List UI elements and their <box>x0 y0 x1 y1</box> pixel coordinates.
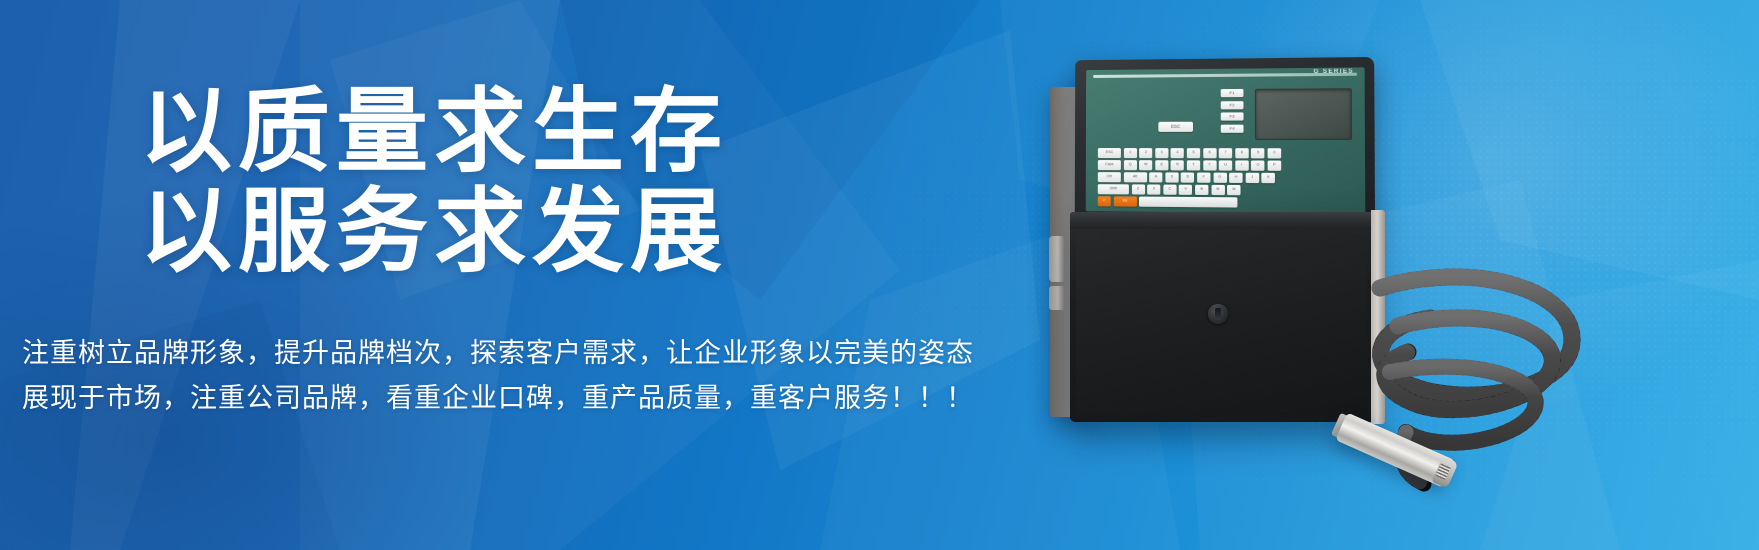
printer-product-image: G SERIES F1 F2 F3 F4 ESC ESC 1 2 3 4 <box>1020 40 1759 510</box>
key-1[interactable]: 1 <box>1124 148 1137 158</box>
keypad-row-3: Ctrl Alt A S D F G H J K <box>1098 172 1357 183</box>
key-g[interactable]: G <box>1213 173 1226 183</box>
key-m[interactable]: M <box>1227 185 1241 195</box>
cabinet-top-lip <box>1070 212 1375 229</box>
key-y[interactable]: Y <box>1203 160 1216 170</box>
key-e[interactable]: E <box>1155 160 1168 170</box>
key-v[interactable]: V <box>1179 185 1192 195</box>
key-i[interactable]: I <box>1235 161 1249 171</box>
key-7[interactable]: 7 <box>1219 148 1232 158</box>
key-q[interactable]: Q <box>1123 160 1136 170</box>
control-panel: G SERIES F1 F2 F3 F4 ESC ESC 1 2 3 4 <box>1086 67 1366 214</box>
key-d[interactable]: D <box>1181 173 1194 183</box>
cabinet-latch[interactable] <box>1208 304 1228 324</box>
lcd-display <box>1255 88 1352 140</box>
key-8[interactable]: 8 <box>1235 148 1249 158</box>
subtitle-line-1: 注重树立品牌形象，提升品牌档次，探索客户需求，让企业形象以完美的姿态 <box>22 331 974 370</box>
key-f1[interactable]: F1 <box>1221 89 1244 97</box>
key-6[interactable]: 6 <box>1203 148 1216 158</box>
key-n[interactable]: N <box>1211 185 1224 195</box>
promotional-banner: 以质量求生存 以服务求发展 注重树立品牌形象，提升品牌档次，探索客户需求，让企业… <box>0 0 1759 550</box>
key-r[interactable]: R <box>1171 160 1184 170</box>
headline-line-1: 以质量求生存 <box>140 81 728 183</box>
key-caps[interactable]: Caps <box>1098 160 1121 170</box>
key-f[interactable]: F <box>1197 173 1210 183</box>
key-9[interactable]: 9 <box>1251 148 1265 158</box>
key-o[interactable]: O <box>1251 161 1265 171</box>
key-esc-large[interactable]: ESC <box>1158 122 1193 132</box>
key-5[interactable]: 5 <box>1187 148 1200 158</box>
key-f3[interactable]: F3 <box>1221 112 1244 120</box>
key-shift[interactable]: Shift <box>1098 184 1129 194</box>
headline: 以质量求生存 以服务求发展 <box>140 82 960 282</box>
keypad-row-4: Shift Z X C V B N M <box>1098 184 1357 195</box>
headline-line-2: 以服务求发展 <box>140 182 960 282</box>
function-key-column: F1 F2 F3 F4 <box>1221 89 1244 136</box>
printer-hinge-lower <box>1049 286 1065 310</box>
control-panel-bezel: G SERIES F1 F2 F3 F4 ESC ESC 1 2 3 4 <box>1075 57 1375 223</box>
key-2[interactable]: 2 <box>1139 148 1152 158</box>
printer-hinge-upper <box>1049 236 1065 282</box>
key-space[interactable] <box>1139 197 1237 208</box>
keypad-row-2: Caps Q W E R T Y U I O P <box>1098 160 1357 171</box>
subtitle-line-2: 展现于市场，注重公司品牌，看重企业口碑，重产品质量，重客户服务！！！ <box>22 376 974 415</box>
key-b[interactable]: B <box>1195 185 1208 195</box>
key-f4[interactable]: F4 <box>1221 124 1244 132</box>
banner-text-block: 以质量求生存 以服务求发展 注重树立品牌形象，提升品牌档次，探索客户需求，让企业… <box>0 0 1000 550</box>
key-ctrl[interactable]: Ctrl <box>1098 172 1121 182</box>
key-enter-orange[interactable]: ↵ <box>1098 197 1111 207</box>
key-a[interactable]: A <box>1149 173 1162 183</box>
key-w[interactable]: W <box>1139 160 1152 170</box>
key-0[interactable]: 0 <box>1267 148 1281 158</box>
key-x[interactable]: X <box>1147 185 1160 195</box>
key-t[interactable]: T <box>1187 160 1200 170</box>
keypad-row-5: ↵ Ins <box>1098 197 1357 209</box>
key-h[interactable]: H <box>1229 173 1243 183</box>
key-u[interactable]: U <box>1219 160 1232 170</box>
keypad: ESC 1 2 3 4 5 6 7 8 9 0 Caps Q <box>1098 148 1357 208</box>
key-k[interactable]: K <box>1262 173 1276 183</box>
key-s[interactable]: S <box>1165 173 1178 183</box>
keypad-row-1: ESC 1 2 3 4 5 6 7 8 9 0 <box>1098 148 1357 158</box>
panel-brand-label: G SERIES <box>1314 69 1354 76</box>
key-p[interactable]: P <box>1268 161 1282 171</box>
key-ins-orange[interactable]: Ins <box>1113 197 1136 207</box>
key-3[interactable]: 3 <box>1155 148 1168 158</box>
key-alt[interactable]: Alt <box>1123 172 1146 182</box>
key-esc[interactable]: ESC <box>1098 148 1121 158</box>
key-z[interactable]: Z <box>1132 185 1145 195</box>
key-c[interactable]: C <box>1163 185 1176 195</box>
key-4[interactable]: 4 <box>1171 148 1184 158</box>
key-f2[interactable]: F2 <box>1221 101 1244 109</box>
key-j[interactable]: J <box>1245 173 1259 183</box>
